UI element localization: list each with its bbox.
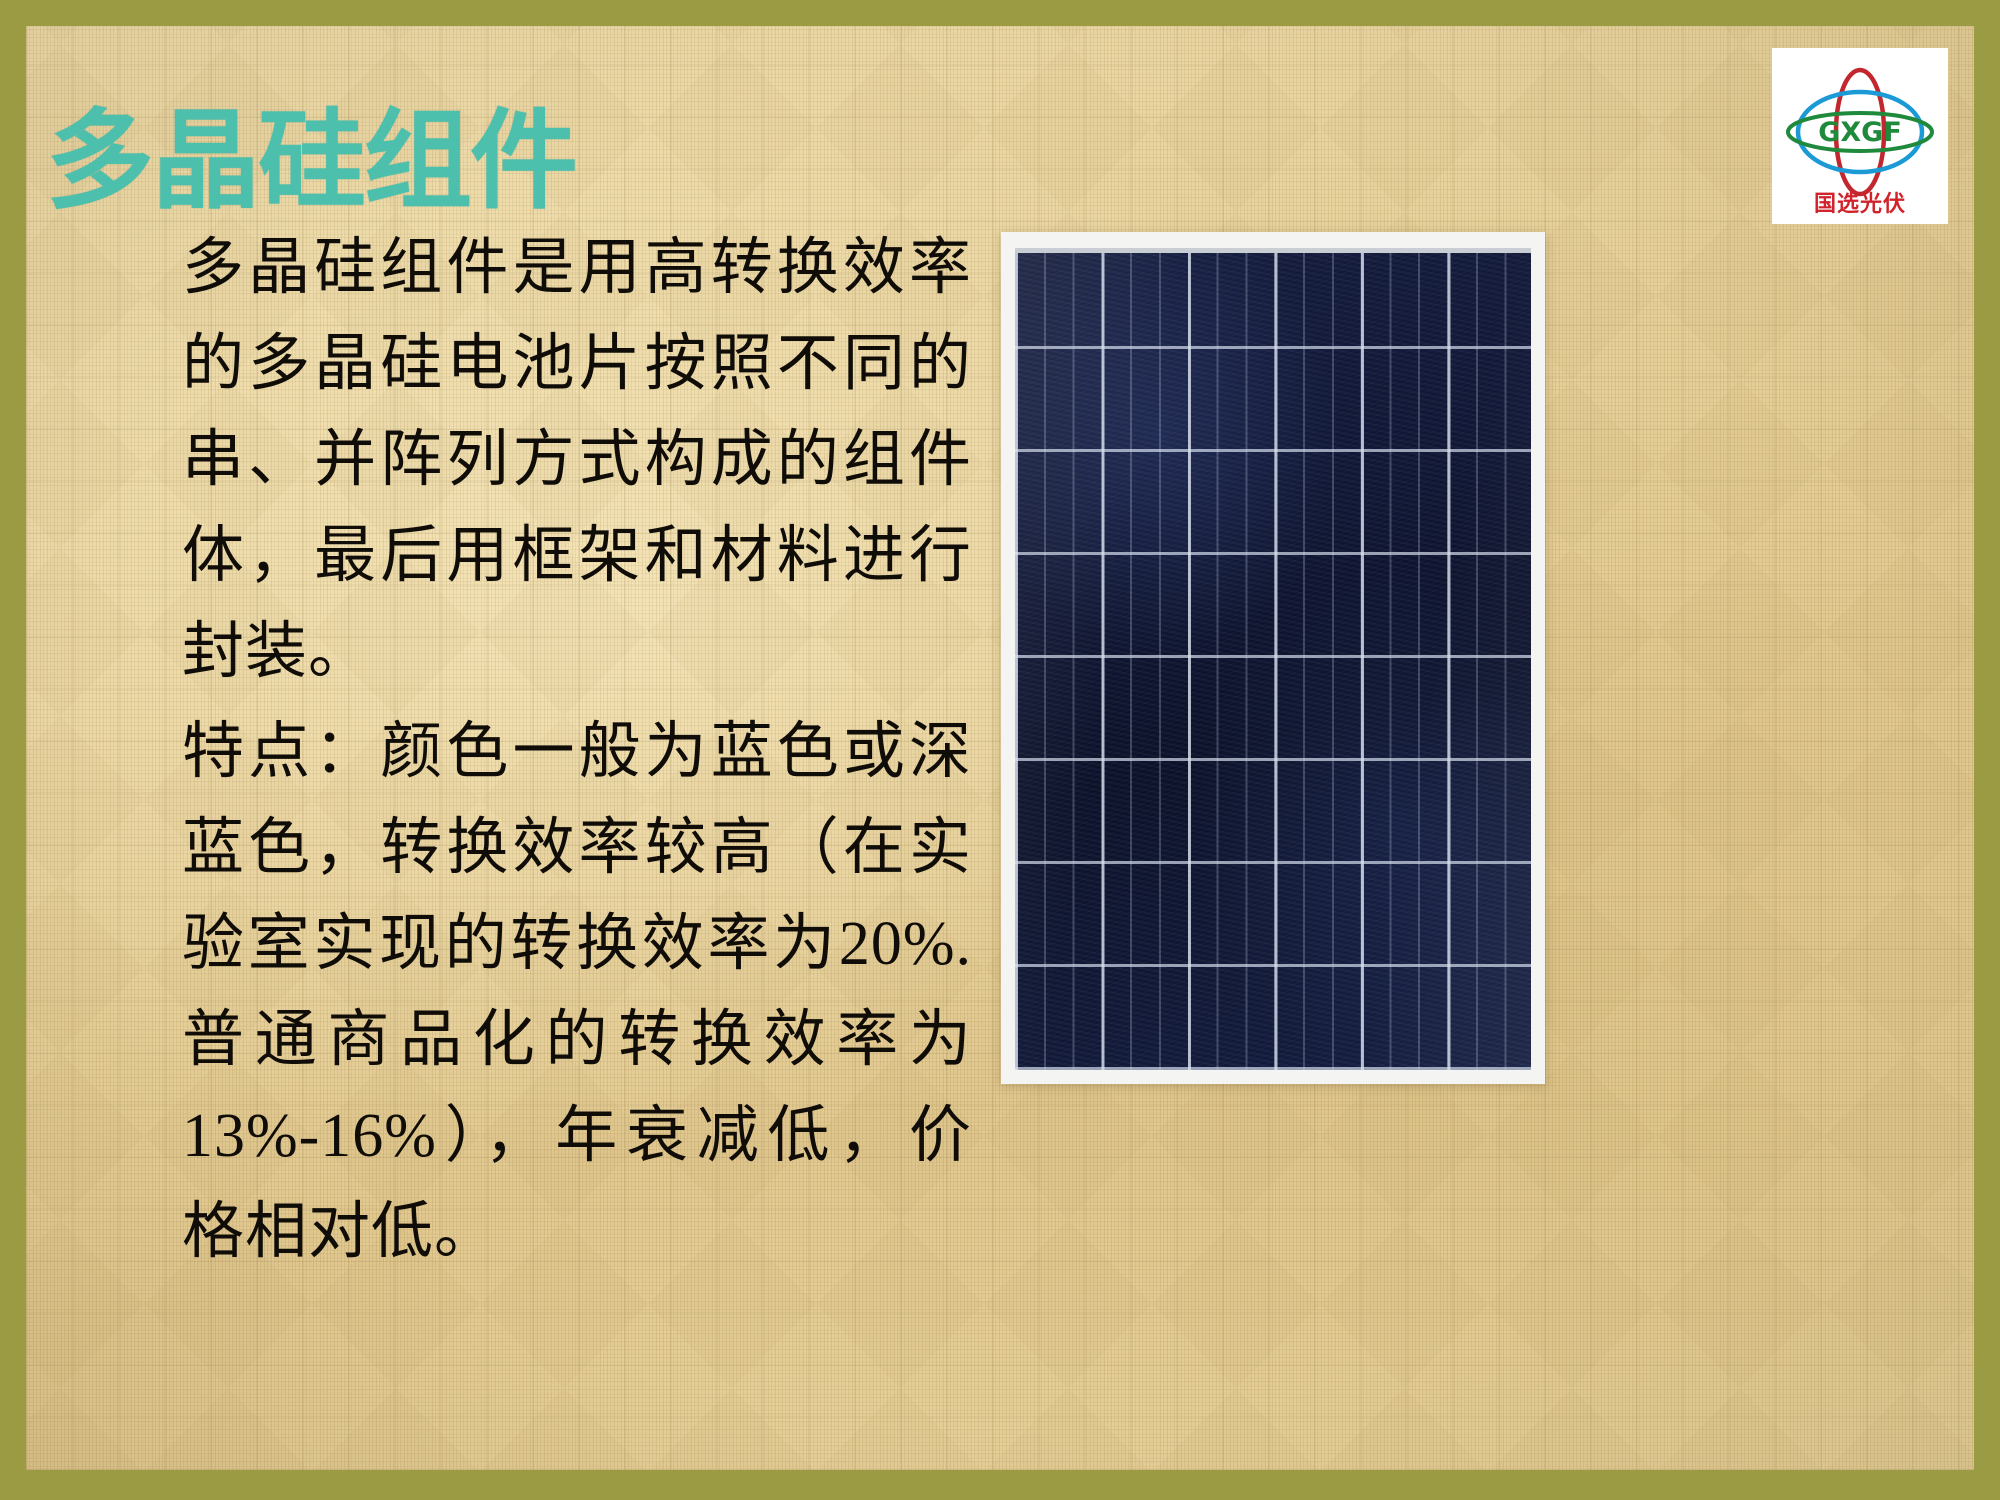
paragraph-description: 多晶硅组件是用高转换效率的多晶硅电池片按照不同的串、并阵列方式构成的组件体，最后…: [182, 220, 972, 700]
solar-panel-laminate: [1015, 248, 1531, 1070]
slide: 多晶硅组件 多晶硅组件是用高转换效率的多晶硅电池片按照不同的串、并阵列方式构成的…: [0, 0, 2000, 1500]
page-title: 多晶硅组件: [46, 108, 576, 216]
paragraph-features: 特点：颜色一般为蓝色或深蓝色，转换效率较高（在实验室实现的转换效率为20%.普通…: [182, 704, 972, 1280]
logo-caption: 国选光伏: [1772, 186, 1948, 218]
company-logo: GXGF 国选光伏: [1772, 48, 1948, 224]
logo-acronym-text: GXGF: [1818, 117, 1902, 148]
solar-panel-photo: [1001, 232, 1545, 1084]
glass-gloss-highlight: [1015, 253, 1531, 1070]
body-text-block: 多晶硅组件是用高转换效率的多晶硅电池片按照不同的串、并阵列方式构成的组件体，最后…: [182, 220, 972, 1280]
